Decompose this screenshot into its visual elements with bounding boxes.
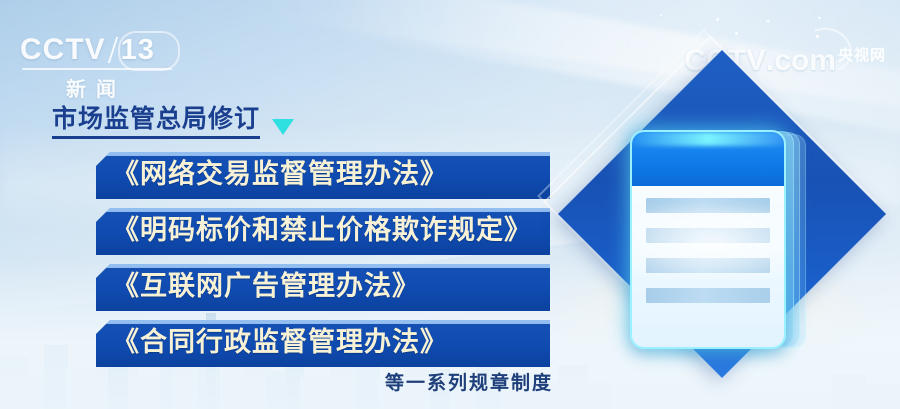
logo-pill-shape (118, 31, 180, 71)
logo-slash-divider (107, 37, 117, 63)
cctv-wordmark: CCTV (20, 34, 106, 66)
sparkle-icon (735, 32, 738, 35)
sparkle-icon (716, 18, 719, 21)
broadcast-graphic-screen: CCTV 13 新闻 CCTV .com 央视网 市场监管总局修订 《网络交易监… (0, 0, 900, 409)
channel-name-cn: 新闻 (20, 73, 172, 102)
regulation-title: 《明码标价和禁止价格欺诈规定》 (112, 214, 532, 248)
list-item[interactable]: 《明码标价和禁止价格欺诈规定》 (96, 208, 550, 255)
document-inner-glow (630, 207, 786, 277)
list-item[interactable]: 《网络交易监督管理办法》 (96, 152, 550, 199)
regulation-title: 《合同行政监督管理办法》 (112, 326, 532, 360)
document-text-line (646, 288, 770, 303)
sparkle-icon (818, 17, 821, 19)
document-diamond-graphic (548, 78, 900, 409)
banner-plate: 《互联网广告管理办法》 (96, 264, 550, 311)
regulation-list: 《网络交易监督管理办法》 《明码标价和禁止价格欺诈规定》 《互联网广告管理办法》… (96, 152, 550, 376)
regulation-title: 《互联网广告管理办法》 (112, 270, 532, 304)
list-item[interactable]: 《互联网广告管理办法》 (96, 264, 550, 311)
sparkle-icon (660, 14, 662, 16)
document-sheet (630, 130, 786, 349)
cctv13-channel-logo: CCTV 13 新闻 (20, 34, 180, 92)
banner-plate: 《明码标价和禁止价格欺诈规定》 (96, 208, 550, 255)
list-item[interactable]: 《合同行政监督管理办法》 (96, 320, 550, 367)
regulation-title: 《网络交易监督管理办法》 (112, 158, 532, 192)
headline: 市场监管总局修订 (52, 105, 294, 139)
banner-plate: 《合同行政监督管理办法》 (96, 320, 550, 367)
headline-text: 市场监管总局修订 (52, 105, 260, 139)
sparkle-icon (766, 20, 770, 22)
footer-caption: 等一系列规章制度 (385, 368, 553, 395)
triangle-down-icon (272, 119, 294, 135)
document-sheen-highlight (632, 132, 784, 146)
banner-plate: 《网络交易监督管理办法》 (96, 152, 550, 199)
